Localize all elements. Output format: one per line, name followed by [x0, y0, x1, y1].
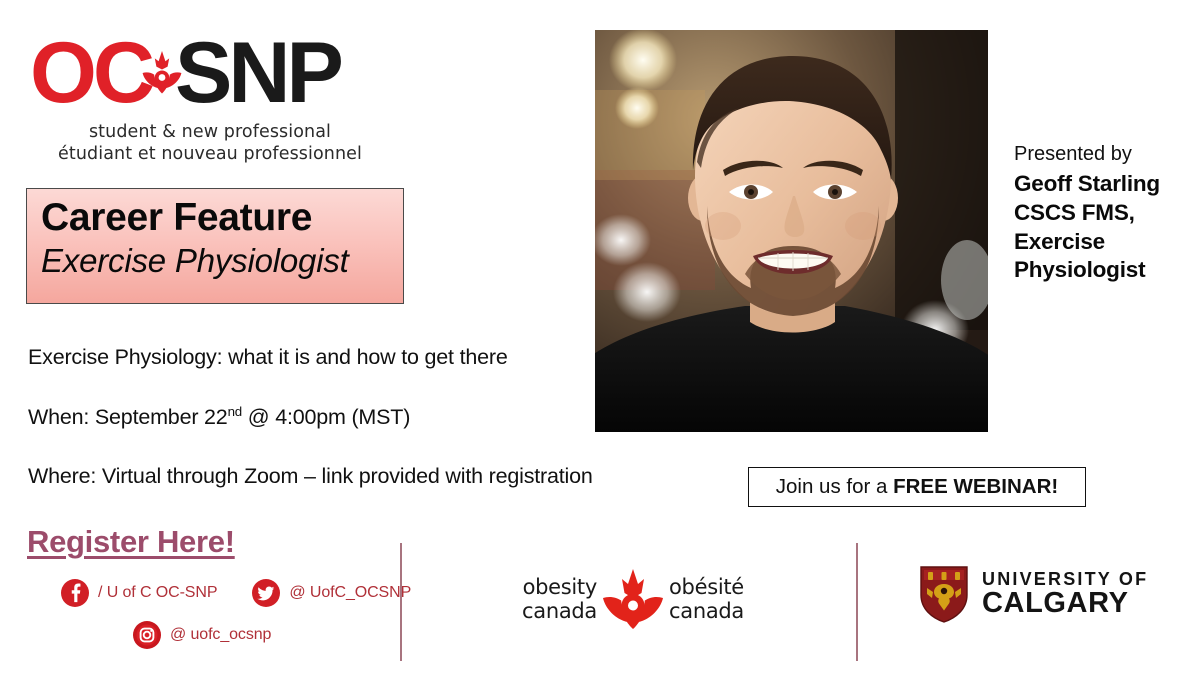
presenter-name-line3: Exercise — [1014, 228, 1194, 257]
obesity-fr-line1: obésité — [669, 576, 764, 600]
social-item-instagram[interactable]: @ uofc_ocsnp — [132, 620, 271, 650]
obesity-canada-logo: obesity canada obésité canada — [505, 562, 765, 638]
instagram-icon[interactable] — [132, 620, 162, 650]
career-feature-box: Career Feature Exercise Physiologist — [26, 188, 404, 304]
social-item-facebook[interactable]: / U of C OC-SNP — [60, 578, 217, 608]
presenter-info: Presented by Geoff Starling CSCS FMS, Ex… — [1014, 142, 1194, 285]
social-row-primary: / U of C OC-SNP @ UofC_OCSNP — [60, 572, 390, 614]
social-links: / U of C OC-SNP @ UofC_OCSNP — [60, 572, 390, 656]
presenter-name-line1: Geoff Starling — [1014, 170, 1194, 199]
social-row-secondary: @ uofc_ocsnp — [60, 614, 390, 656]
presenter-name-line4: Physiologist — [1014, 256, 1194, 285]
logo-oc-text: OC — [30, 30, 151, 116]
career-feature-subtitle: Exercise Physiologist — [41, 242, 403, 280]
facebook-icon[interactable] — [60, 578, 90, 608]
webinar-emphasis: FREE WEBINAR! — [893, 475, 1058, 498]
ucalgary-line1: UNIVERSITY OF — [982, 570, 1148, 588]
maple-leaf-person-icon — [141, 50, 183, 102]
obesity-en-line1: obesity — [505, 576, 597, 600]
when-time: @ 4:00pm (MST) — [242, 405, 410, 429]
tagline-french: étudiant et nouveau professionnel — [30, 143, 390, 165]
free-webinar-text: Join us for a FREE WEBINAR! — [776, 475, 1059, 499]
when-ordinal-suffix: nd — [228, 404, 242, 419]
tagline-english: student & new professional — [30, 121, 390, 143]
obesity-canada-maple-leaf-icon — [600, 567, 666, 633]
obesity-fr-line2: canada — [669, 600, 764, 624]
twitter-icon[interactable] — [251, 578, 281, 608]
ocsnp-wordmark: OC SNP — [30, 34, 390, 112]
presenter-photo — [595, 30, 988, 432]
ucalgary-shield-icon — [918, 564, 970, 624]
obesity-canada-text-french: obésité canada — [669, 576, 764, 623]
presented-by-label: Presented by — [1014, 142, 1194, 167]
webinar-prefix: Join us for a — [776, 475, 893, 498]
presenter-name-credentials: Geoff Starling CSCS FMS, Exercise Physio… — [1014, 170, 1194, 285]
ucalgary-line2: CALGARY — [982, 589, 1148, 618]
free-webinar-badge: Join us for a FREE WEBINAR! — [748, 467, 1086, 507]
vertical-divider-left — [400, 543, 402, 661]
where-line: Where: Virtual through Zoom – link provi… — [28, 464, 593, 489]
instagram-handle: @ uofc_ocsnp — [170, 626, 271, 644]
career-feature-title: Career Feature — [41, 197, 403, 240]
social-item-twitter[interactable]: @ UofC_OCSNP — [251, 578, 411, 608]
twitter-handle: @ UofC_OCSNP — [289, 584, 411, 602]
obesity-canada-text-english: obesity canada — [505, 576, 597, 623]
ucalgary-logo: UNIVERSITY OF CALGARY — [918, 564, 1148, 624]
register-here-link[interactable]: Register Here! — [27, 524, 235, 560]
when-line: When: September 22nd @ 4:00pm (MST) — [28, 405, 410, 430]
ocsnp-logo: OC SNP student & new professional étudia… — [30, 34, 390, 166]
when-prefix: When: September 22 — [28, 405, 228, 429]
webinar-poster: OC SNP student & new professional étudia… — [0, 0, 1200, 675]
obesity-en-line2: canada — [505, 600, 597, 624]
ucalgary-wordmark: UNIVERSITY OF CALGARY — [982, 570, 1148, 618]
vertical-divider-right — [856, 543, 858, 661]
facebook-handle: / U of C OC-SNP — [98, 584, 217, 602]
presenter-name-line2: CSCS FMS, — [1014, 199, 1194, 228]
topic-line: Exercise Physiology: what it is and how … — [28, 345, 508, 370]
logo-snp-text: SNP — [175, 30, 340, 116]
ocsnp-tagline: student & new professional étudiant et n… — [30, 121, 390, 166]
